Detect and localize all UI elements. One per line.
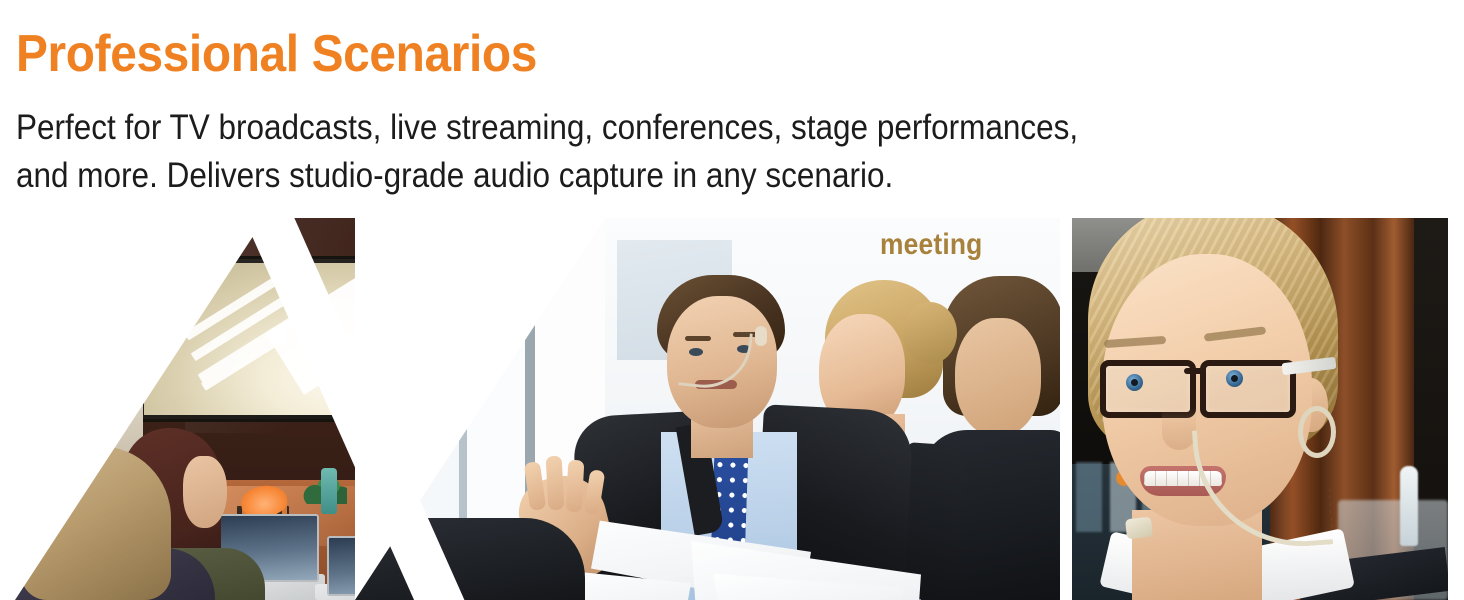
businesswoman-bun (903, 302, 957, 364)
banner-description: Perfect for TV broadcasts, live streamin… (16, 104, 1303, 200)
headset-earhook (1298, 406, 1336, 458)
gallery-image-headset (1070, 218, 1448, 600)
colleague-face (955, 318, 1041, 436)
woman-pupil-left (1131, 379, 1138, 386)
banner-description-line-1: Perfect for TV broadcasts, live streamin… (16, 104, 1303, 152)
attendee-face (183, 456, 227, 528)
promo-banner: Professional Scenarios Perfect for TV br… (0, 0, 1464, 600)
page-title: Professional Scenarios (16, 26, 537, 82)
woman-nose (1162, 408, 1196, 450)
background-bottle (1400, 466, 1418, 546)
eyeglasses-bridge (1184, 368, 1206, 374)
panel-gutter (1060, 218, 1072, 600)
water-bottle (321, 468, 337, 514)
banner-description-line-2: and more. Delivers studio-grade audio ca… (16, 152, 1303, 200)
finger (566, 460, 585, 513)
meeting-caption: meeting (880, 230, 982, 260)
finger (546, 456, 565, 511)
gallery-image-meeting: meeting (355, 218, 1070, 600)
image-gallery: meeting (15, 218, 1448, 600)
headset-mic-capsule (1125, 517, 1153, 540)
woman-pupil-right (1231, 375, 1238, 382)
businessman-earpiece (755, 326, 767, 346)
